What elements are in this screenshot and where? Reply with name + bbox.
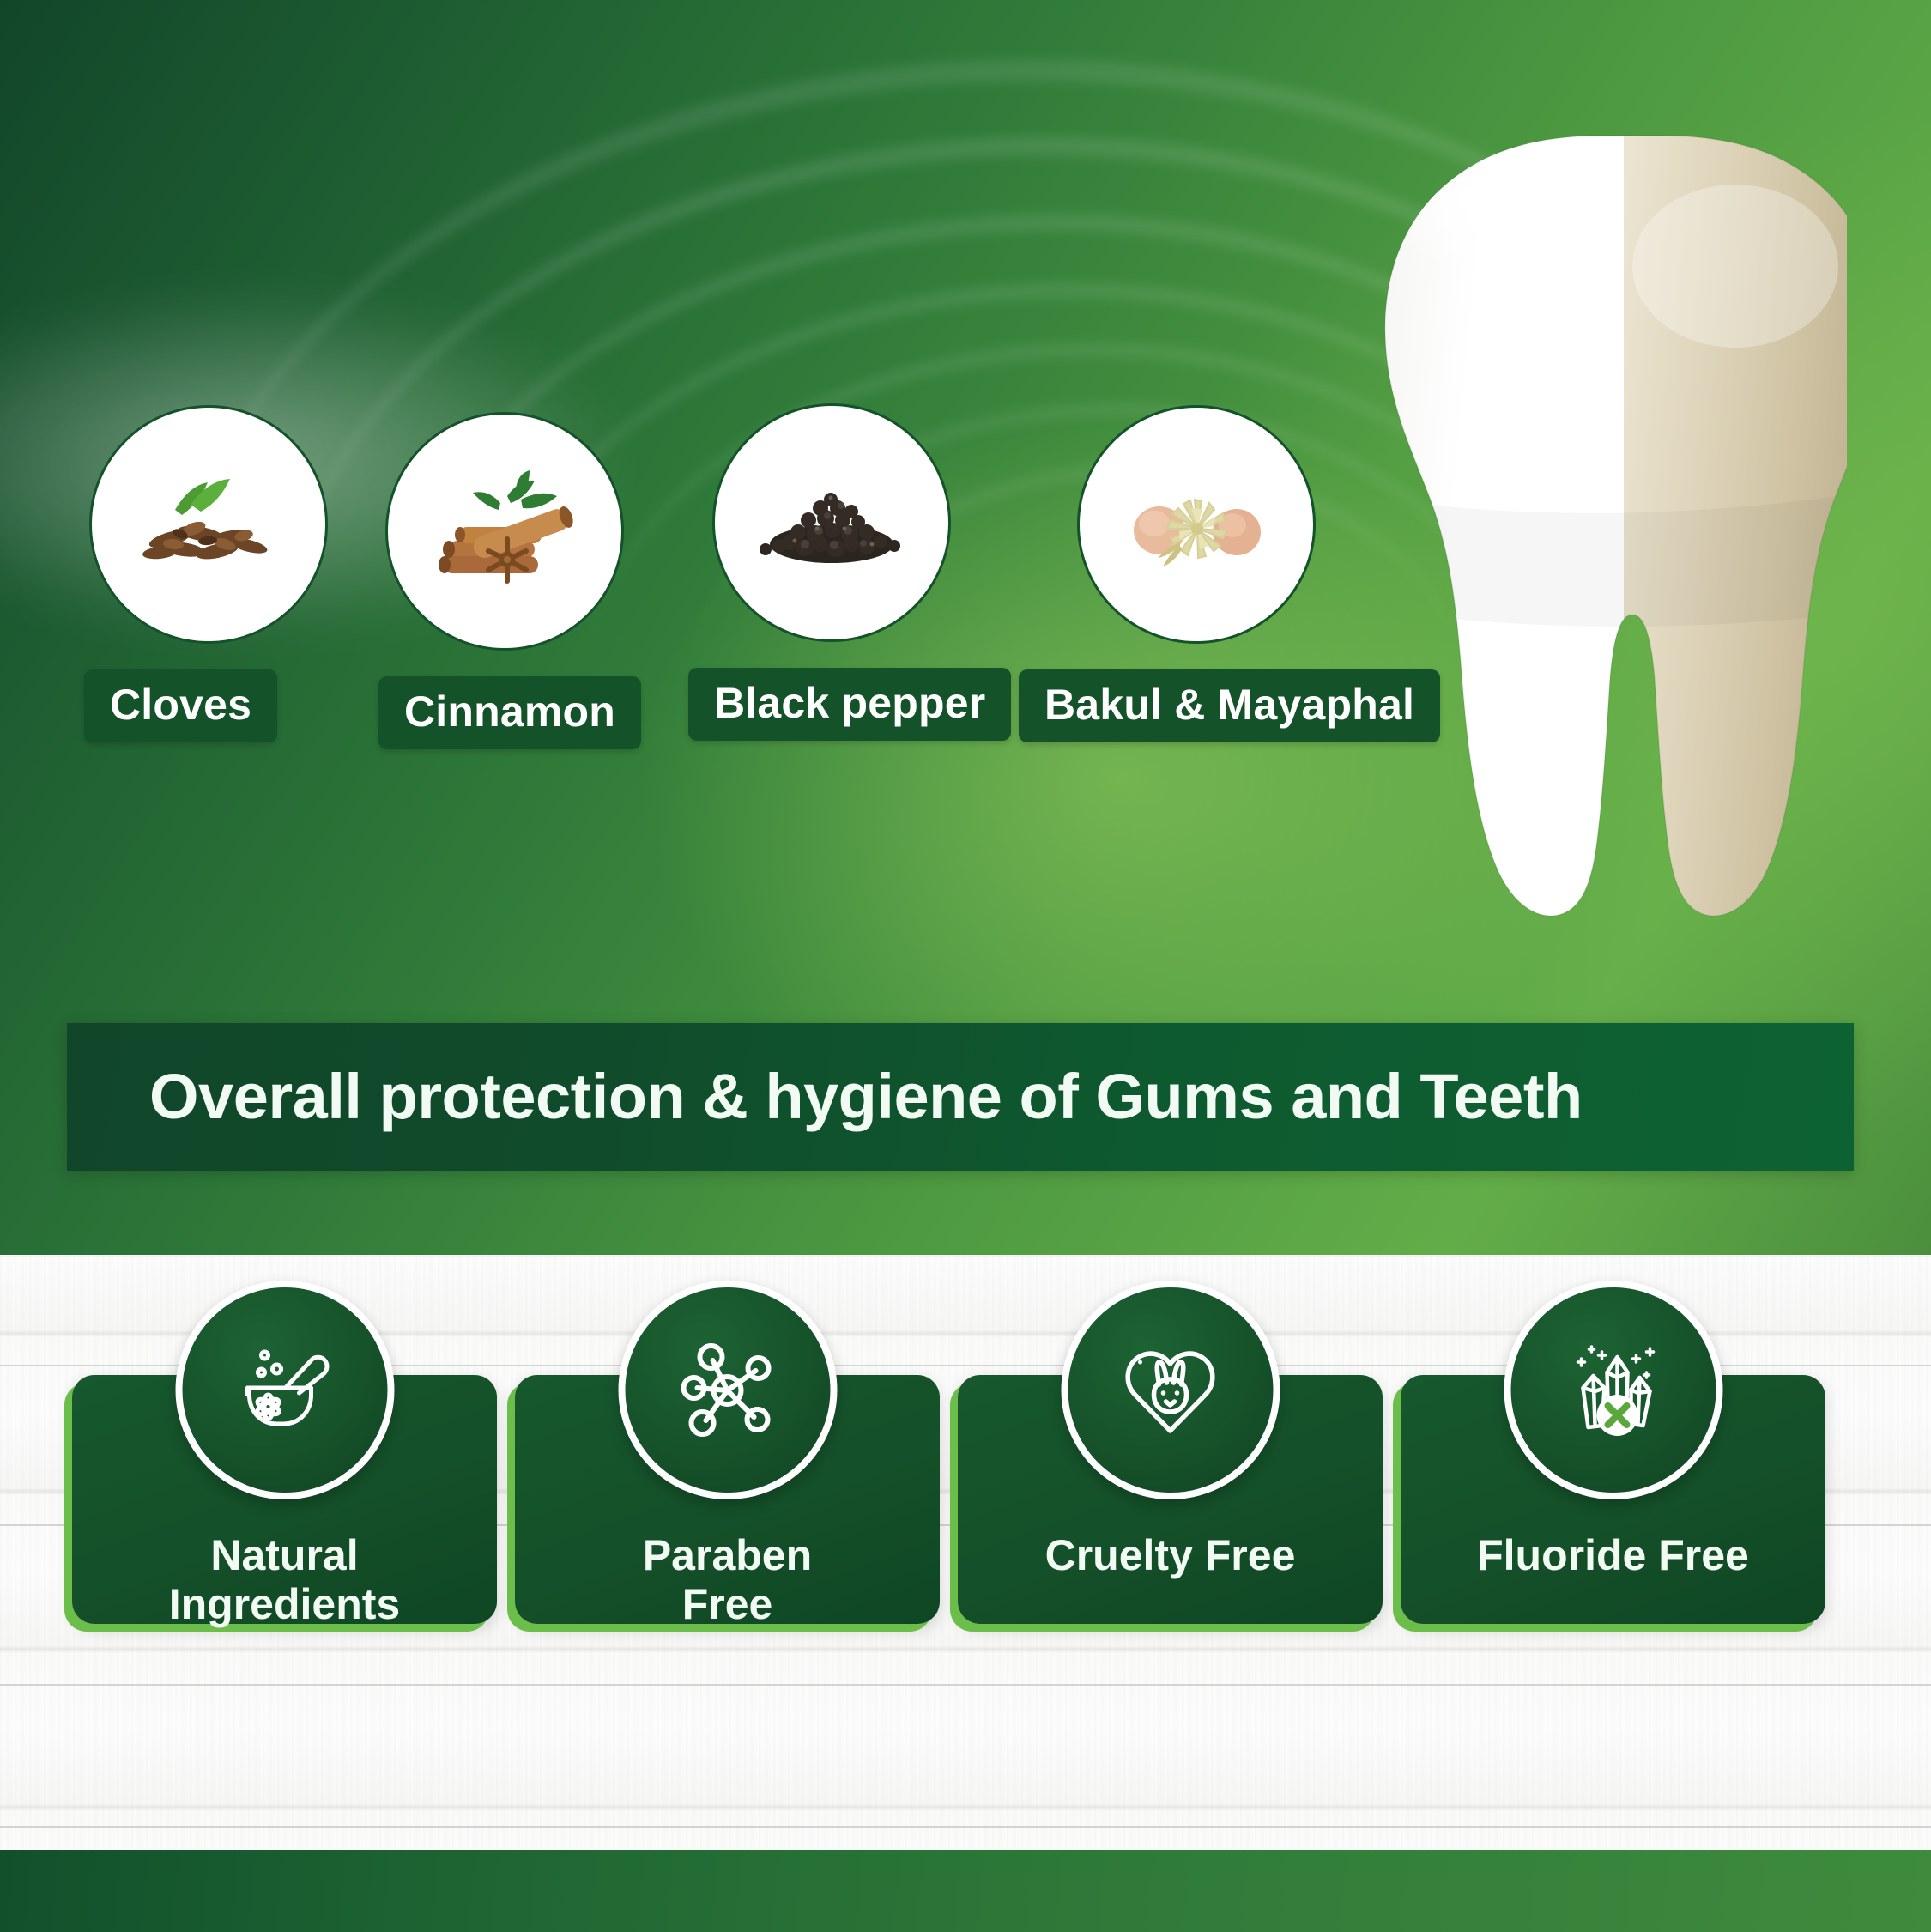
feature-label-line2: Free	[515, 1580, 940, 1629]
ingredient-photo-frame	[89, 405, 328, 644]
rabbit-heart-icon	[1115, 1335, 1226, 1446]
ingredient-list: Cloves	[0, 0, 1931, 858]
ingredient-label: Cloves	[84, 669, 277, 742]
ingredient-item-bakul-mayaphal[interactable]: Bakul & Mayaphal	[1077, 405, 1440, 742]
ingredient-photo-frame	[1077, 405, 1316, 644]
feature-label-line1: Paraben	[515, 1531, 940, 1580]
mortar-pestle-icon	[229, 1335, 341, 1446]
feature-label: Cruelty Free	[958, 1531, 1383, 1580]
molecule-icon	[672, 1335, 784, 1446]
feature-icon-circle	[618, 1281, 837, 1499]
infographic-canvas: Cloves	[0, 0, 1931, 1932]
headline-text: Overall protection & hygiene of Gums and…	[149, 1065, 1583, 1129]
feature-icon-circle	[1061, 1281, 1280, 1499]
cloves-photo	[118, 460, 299, 589]
feature-label-line1: Natural	[72, 1531, 497, 1580]
feature-label: Paraben Free	[515, 1531, 940, 1629]
cinnamon-photo	[415, 467, 595, 596]
feature-label-line2: Ingredients	[72, 1580, 497, 1629]
bottom-green-strip	[0, 1850, 1931, 1932]
ingredient-photo-frame	[385, 412, 624, 651]
black-pepper-photo	[742, 458, 922, 587]
ingredient-item-cinnamon[interactable]: Cinnamon	[385, 412, 641, 749]
feature-icon-circle	[1504, 1281, 1722, 1499]
feature-icon-circle	[175, 1281, 394, 1499]
feature-label-line1: Cruelty Free	[958, 1531, 1383, 1580]
ingredient-item-black-pepper[interactable]: Black pepper	[712, 403, 1011, 741]
ingredient-item-cloves[interactable]: Cloves	[89, 405, 328, 742]
feature-label: Natural Ingredients	[72, 1531, 497, 1629]
feature-label: Fluoride Free	[1401, 1531, 1825, 1580]
ingredient-label: Bakul & Mayaphal	[1019, 669, 1440, 742]
ingredient-label: Cinnamon	[378, 676, 641, 749]
feature-label-line1: Fluoride Free	[1401, 1531, 1825, 1580]
ingredient-photo-frame	[712, 403, 951, 642]
feature-badge-list: Natural Ingredients Paraben Fr	[0, 1255, 1931, 1850]
ingredient-label: Black pepper	[688, 668, 1011, 741]
headline-banner: Overall protection & hygiene of Gums and…	[67, 1023, 1854, 1171]
crystals-no-icon	[1558, 1335, 1669, 1446]
bakul-mayaphal-photo	[1106, 460, 1286, 589]
